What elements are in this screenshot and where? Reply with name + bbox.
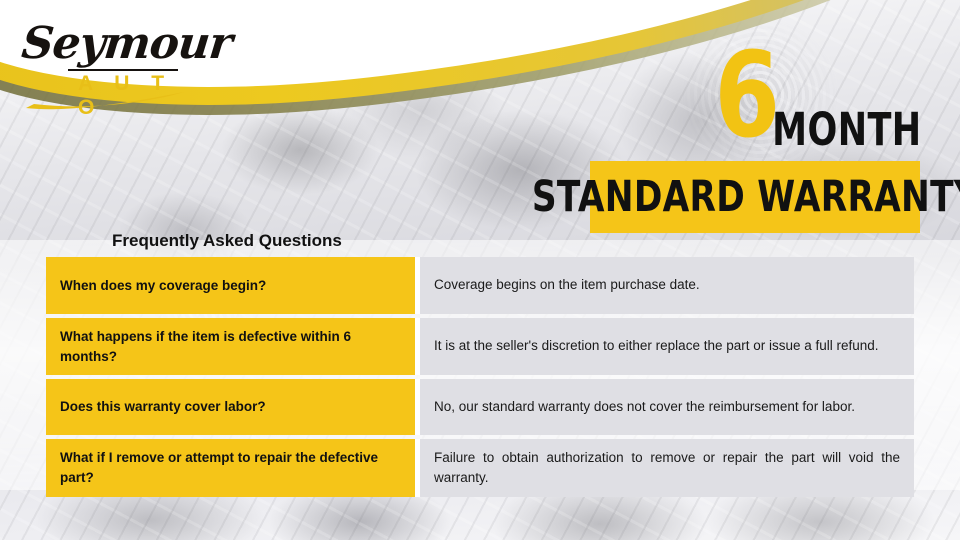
faq-answer-cell: It is at the seller's discretion to eith… (420, 318, 914, 375)
faq-answer-text: It is at the seller's discretion to eith… (434, 336, 879, 356)
faq-answer-text: Failure to obtain authorization to remov… (434, 448, 900, 489)
faq-question-cell: What happens if the item is defective wi… (46, 318, 415, 375)
seymour-auto-logo: Seymour A U T O (16, 16, 196, 108)
faq-question-text: What if I remove or attempt to repair th… (60, 448, 401, 487)
logo-swoosh-icon (24, 90, 204, 112)
faq-row: What if I remove or attempt to repair th… (46, 439, 914, 497)
faq-answer-cell: Failure to obtain authorization to remov… (420, 439, 914, 497)
warranty-banner-title: STANDARD WARRANTY (531, 176, 960, 219)
faq-question-text: Does this warranty cover labor? (60, 397, 266, 417)
faq-question-text: When does my coverage begin? (60, 276, 266, 296)
faq-question-text: What happens if the item is defective wi… (60, 327, 401, 366)
faq-answer-cell: No, our standard warranty does not cover… (420, 379, 914, 435)
faq-answer-cell: Coverage begins on the item purchase dat… (420, 257, 914, 314)
faq-table: When does my coverage begin? Coverage be… (46, 257, 914, 497)
faq-question-cell: Does this warranty cover labor? (46, 379, 415, 435)
duration-unit: MONTH (773, 107, 922, 152)
logo-underline-rule (68, 69, 178, 71)
faq-question-cell: When does my coverage begin? (46, 257, 415, 314)
warranty-banner: STANDARD WARRANTY (590, 161, 920, 233)
faq-row: What happens if the item is defective wi… (46, 318, 914, 375)
faq-answer-text: No, our standard warranty does not cover… (434, 397, 855, 417)
logo-wordmark: Seymour (19, 18, 234, 69)
faq-row: When does my coverage begin? Coverage be… (46, 257, 914, 314)
faq-heading: Frequently Asked Questions (112, 231, 342, 251)
duration-number: 6 (714, 36, 780, 154)
faq-answer-text: Coverage begins on the item purchase dat… (434, 275, 700, 295)
duration-block: 6 MONTH (600, 40, 930, 158)
warranty-slide: Seymour A U T O 6 MONTH STANDARD WARRANT… (0, 0, 960, 540)
faq-question-cell: What if I remove or attempt to repair th… (46, 439, 415, 497)
faq-row: Does this warranty cover labor? No, our … (46, 379, 914, 435)
